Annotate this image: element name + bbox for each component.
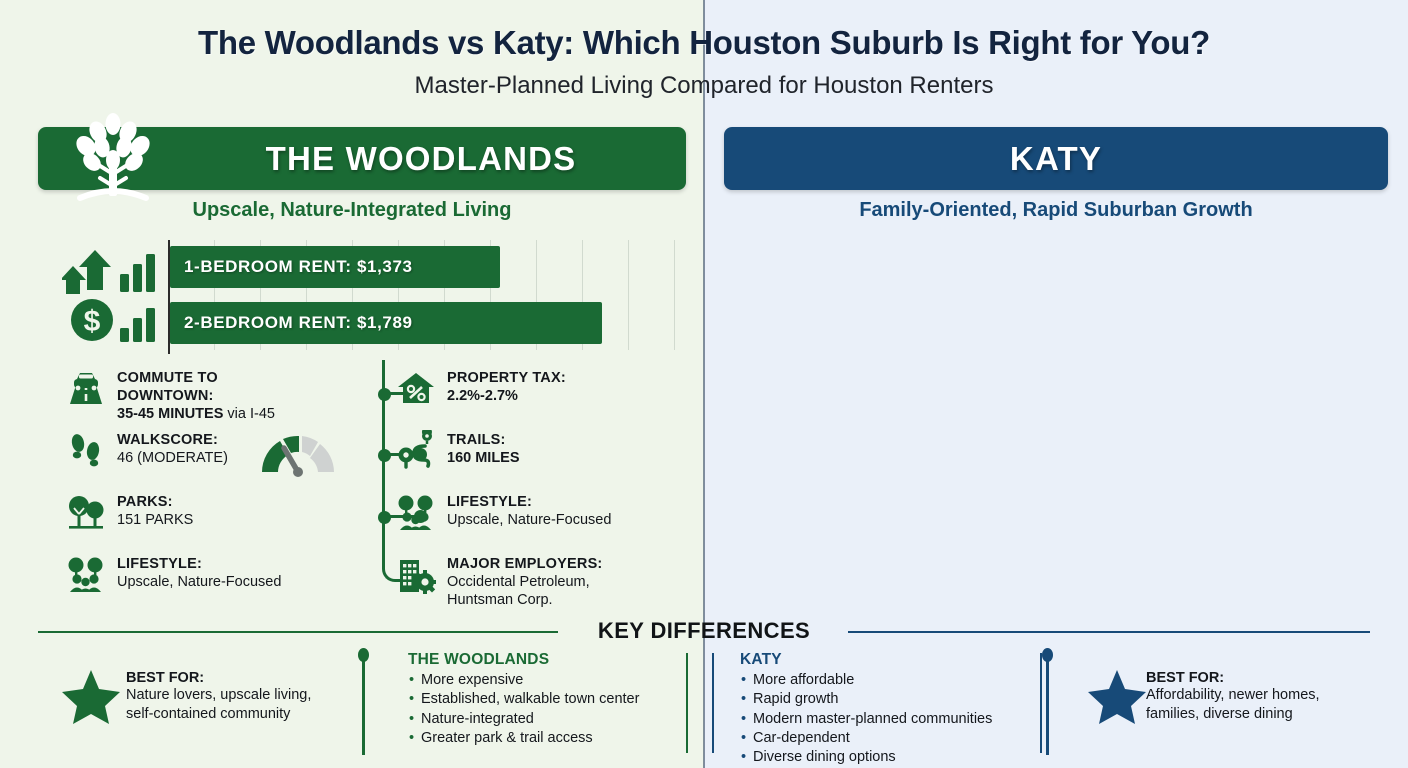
list-item: Greater park & trail access — [408, 729, 639, 748]
up-arrows-bars-icon: $ — [62, 238, 162, 346]
woodlands-differences-list: THE WOODLANDS More expensive Established… — [408, 651, 639, 748]
woodlands-tagline: Upscale, Nature-Integrated Living — [0, 199, 704, 222]
stat-walkscore-value: 46 (MODERATE) — [117, 449, 228, 467]
katy-differences-list: KATY More affordable Rapid growth Modern… — [740, 651, 992, 767]
stat-trails-value: 160 MILES — [447, 449, 520, 467]
stat-lifestyle-value: Upscale, Nature-Focused — [117, 573, 281, 591]
list-item: More expensive — [408, 671, 639, 690]
stat-lifestyle-label: LIFESTYLE: — [117, 555, 281, 573]
stat-trails-label: TRAILS: — [447, 431, 520, 449]
people-trees-icon — [396, 492, 436, 532]
bar-1-bedroom-label: 1-BEDROOM RENT: $1,373 — [184, 257, 413, 277]
stat-lifestyle-b-label: LIFESTYLE: — [447, 493, 611, 511]
star-icon — [60, 668, 122, 726]
stat-major-employers-line2: Huntsman Corp. — [447, 591, 602, 609]
katy-stem — [1046, 657, 1049, 755]
building-gear-icon — [396, 554, 436, 594]
stat-commute-value: 35-45 MINUTES — [117, 406, 223, 422]
key-differences-center-divider-left — [686, 653, 688, 753]
katy-brand-label: KATY — [1010, 140, 1102, 178]
stat-lifestyle: LIFESTYLE: Upscale, Nature-Focused — [66, 554, 281, 594]
stat-property-tax: PROPERTY TAX: 2.2%-2.7% — [396, 368, 566, 408]
woodlands-brand-label: THE WOODLANDS — [266, 140, 577, 178]
katy-best-for-label: BEST FOR: — [1146, 670, 1320, 686]
stat-property-tax-label: PROPERTY TAX: — [447, 369, 566, 387]
stat-property-tax-value: 2.2%-2.7% — [447, 387, 566, 405]
stat-walkscore-label: WALKSCORE: — [117, 431, 228, 449]
svg-text:$: $ — [84, 305, 101, 338]
stat-walkscore: WALKSCORE: 46 (MODERATE) — [66, 430, 228, 470]
bar-1-bedroom: 1-BEDROOM RENT: $1,373 — [170, 246, 500, 288]
car-road-icon — [66, 368, 106, 408]
bar-2-bedroom: 2-BEDROOM RENT: $1,789 — [170, 302, 602, 344]
list-item: Diverse dining options — [740, 748, 992, 767]
list-item: More affordable — [740, 671, 992, 690]
woodlands-best-for: BEST FOR: Nature lovers, upscale living,… — [126, 670, 311, 723]
stat-lifestyle-b-value: Upscale, Nature-Focused — [447, 511, 611, 529]
katy-best-for-line1: Affordability, newer homes, — [1146, 686, 1320, 705]
woodlands-best-for-label: BEST FOR: — [126, 670, 311, 686]
katy-list-heading: KATY — [740, 651, 992, 669]
stat-parks-value: 151 PARKS — [117, 511, 193, 529]
list-item: Established, walkable town center — [408, 690, 639, 709]
stat-lifestyle-b: LIFESTYLE: Upscale, Nature-Focused — [396, 492, 611, 532]
list-item: Nature-integrated — [408, 710, 639, 729]
woodlands-rent-chart: 1-BEDROOM RENT: $1,373 2-BEDROOM RENT: $… — [168, 240, 676, 350]
katy-brand-bar: KATY — [724, 127, 1388, 190]
katy-best-for: BEST FOR: Affordability, newer homes, fa… — [1146, 670, 1320, 723]
trail-route-icon — [396, 430, 436, 470]
stat-commute-label: COMMUTE TO DOWNTOWN: — [117, 369, 312, 405]
people-trees-icon — [66, 554, 106, 594]
bar-2-bedroom-label: 2-BEDROOM RENT: $1,789 — [184, 313, 413, 333]
trees-icon — [66, 492, 106, 532]
katy-tagline: Family-Oriented, Rapid Suburban Growth — [704, 199, 1408, 222]
woodlands-list-heading: THE WOODLANDS — [408, 651, 639, 669]
house-percent-icon — [396, 368, 436, 408]
stat-major-employers: MAJOR EMPLOYERS: Occidental Petroleum, H… — [396, 554, 602, 609]
katy-best-for-line2: families, diverse dining — [1146, 705, 1320, 724]
woodlands-best-for-line1: Nature lovers, upscale living, — [126, 686, 311, 705]
stat-commute: COMMUTE TO DOWNTOWN: 35-45 MINUTES via I… — [66, 368, 312, 423]
key-differences-title: KEY DIFFERENCES — [0, 618, 1408, 644]
stat-parks: PARKS: 151 PARKS — [66, 492, 193, 532]
list-item: Car-dependent — [740, 729, 992, 748]
footsteps-icon — [66, 430, 106, 470]
stat-parks-label: PARKS: — [117, 493, 193, 511]
list-item: Rapid growth — [740, 690, 992, 709]
tree-icon — [64, 110, 162, 206]
key-differences-center-divider-right — [712, 653, 714, 753]
stat-major-employers-line1: Occidental Petroleum, — [447, 573, 602, 591]
stat-commute-suffix: via I-45 — [223, 406, 275, 422]
woodlands-best-for-line2: self-contained community — [126, 705, 311, 724]
woodlands-stem — [362, 657, 365, 755]
katy-stem-divider — [1040, 653, 1042, 753]
walkscore-gauge-icon — [256, 426, 340, 480]
star-icon — [1086, 668, 1148, 726]
stat-major-employers-label: MAJOR EMPLOYERS: — [447, 555, 602, 573]
list-item: Modern master-planned communities — [740, 710, 992, 729]
stat-trails: TRAILS: 160 MILES — [396, 430, 520, 470]
